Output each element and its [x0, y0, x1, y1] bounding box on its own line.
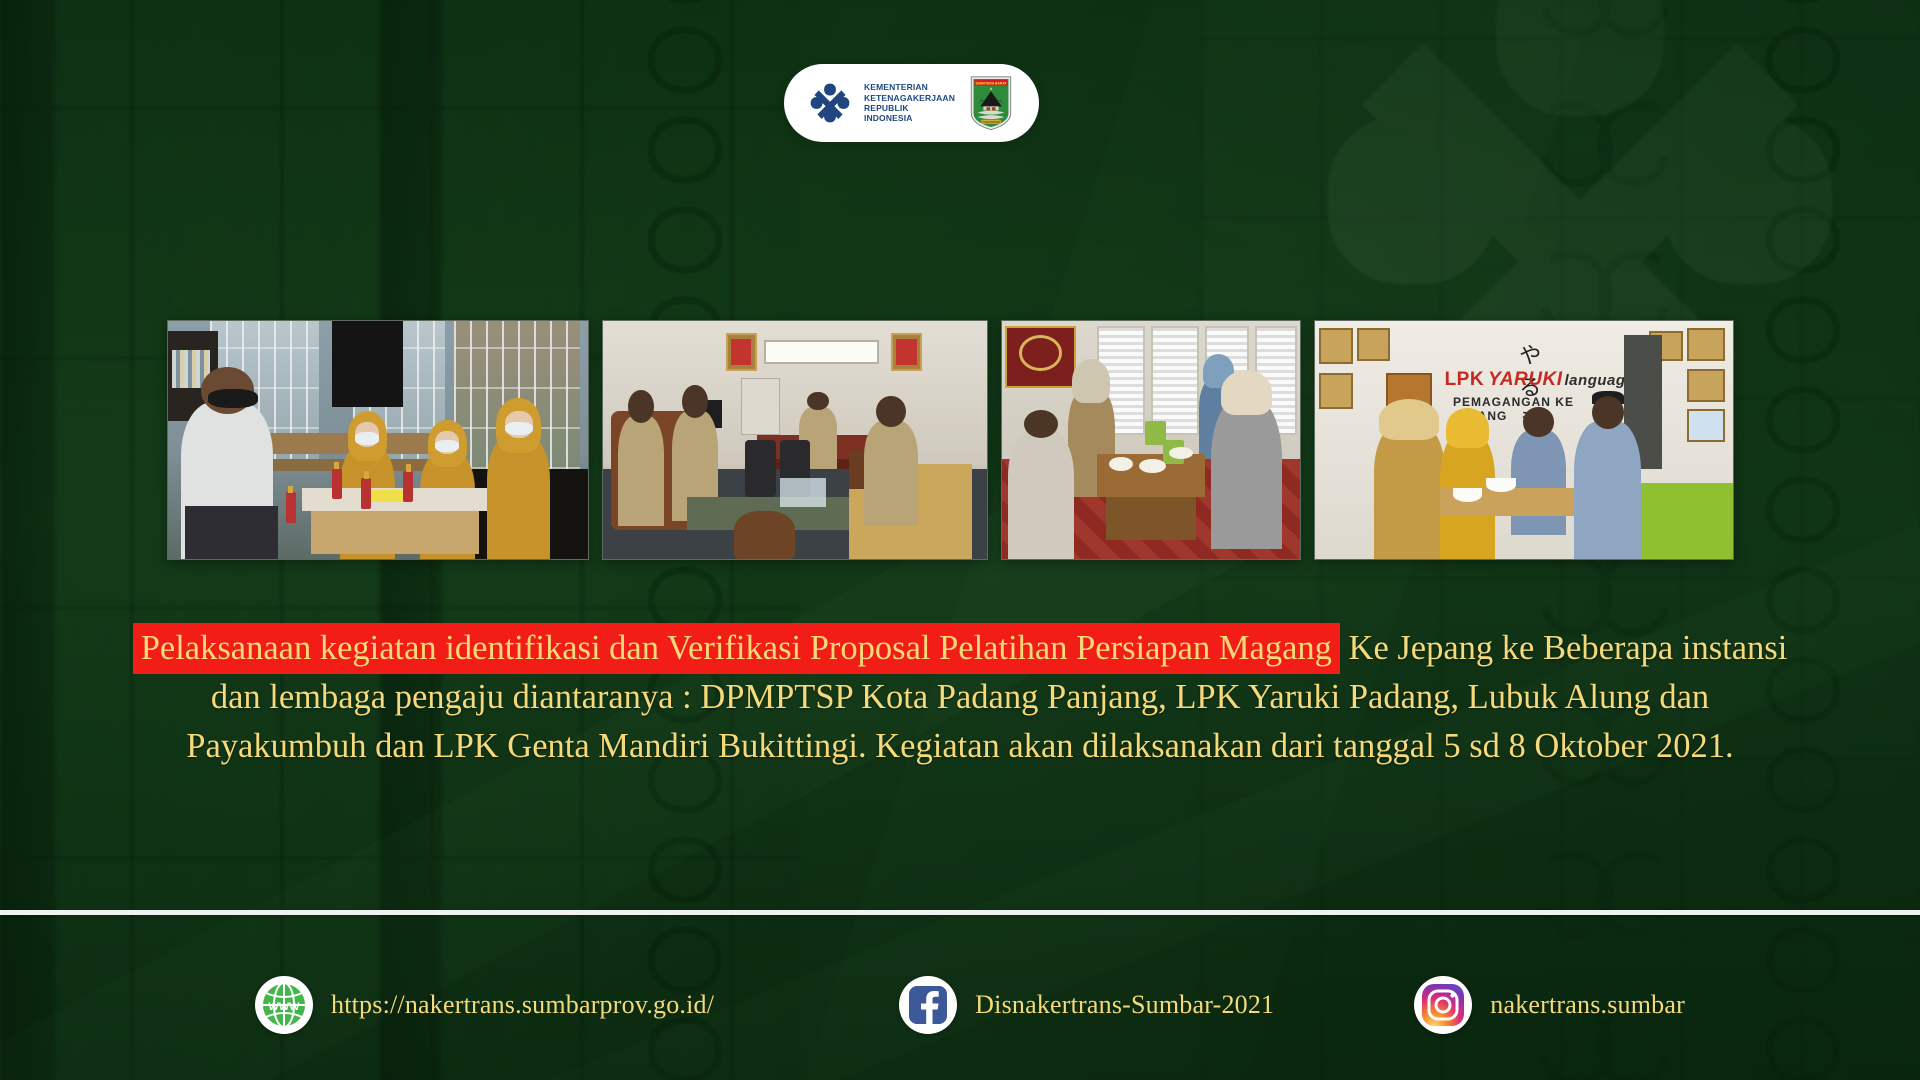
gallery-photo-3[interactable]	[1001, 320, 1301, 560]
caption-highlighted-text: Pelaksanaan kegiatan identifikasi dan Ve…	[133, 623, 1340, 674]
sumatera-barat-emblem-icon: SUMATERA BARAT TUAH SAKATO	[968, 75, 1014, 131]
website-url-label: https://nakertrans.sumbarprov.go.id/	[331, 990, 714, 1020]
ministry-name-text: KEMENTERIAN KETENAGAKERJAAN REPUBLIK IND…	[864, 82, 955, 123]
lpk-yaruki-sign: LPKYARUKIlanguage	[1445, 364, 1612, 397]
gallery-photo-4[interactable]: やるき LPKYARUKIlanguage PEMAGANGAN KE JEPA…	[1314, 320, 1734, 560]
footer-item-website[interactable]: WWW https://nakertrans.sumbarprov.go.id/	[255, 976, 714, 1034]
svg-text:WWW: WWW	[268, 1001, 300, 1013]
logo-pill: KEMENTERIAN KETENAGAKERJAAN REPUBLIK IND…	[784, 64, 1039, 142]
globe-www-icon: WWW	[255, 976, 313, 1034]
sign-lpk-text: LPK	[1445, 369, 1485, 391]
emblem-bottom-label: TUAH SAKATO	[982, 121, 1000, 124]
caption-block: Pelaksanaan kegiatan identifikasi dan Ve…	[0, 624, 1920, 771]
sign-yaruki-text: YARUKI	[1488, 369, 1562, 391]
footer-item-instagram[interactable]: nakertrans.sumbar	[1414, 976, 1685, 1034]
gallery-photo-1[interactable]	[167, 320, 589, 560]
facebook-icon	[899, 976, 957, 1034]
facebook-handle-label: Disnakertrans-Sumbar-2021	[975, 990, 1274, 1020]
kemnaker-logo-icon	[809, 82, 851, 124]
photo-gallery: やるき LPKYARUKIlanguage PEMAGANGAN KE JEPA…	[167, 320, 1757, 560]
gallery-photo-2[interactable]	[602, 320, 988, 560]
footer-item-facebook[interactable]: Disnakertrans-Sumbar-2021	[899, 976, 1274, 1034]
instagram-handle-label: nakertrans.sumbar	[1490, 990, 1685, 1020]
emblem-top-label: SUMATERA BARAT	[975, 81, 1007, 85]
instagram-icon	[1414, 976, 1472, 1034]
footer-divider	[0, 910, 1920, 915]
footer-contact-bar: WWW https://nakertrans.sumbarprov.go.id/…	[0, 955, 1920, 1055]
